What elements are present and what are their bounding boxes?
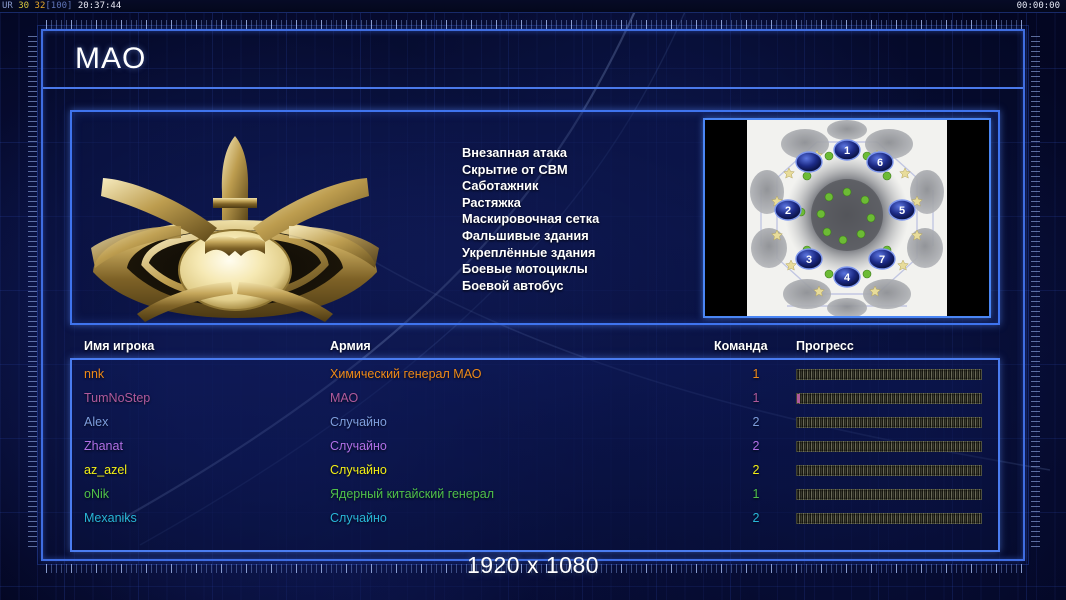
title-bar: MAO [43,31,1023,89]
status-prefix: UR [2,1,13,11]
resolution-label: 1920 x 1080 [0,552,1066,579]
svg-text:6: 6 [877,157,883,169]
player-army: Случайно [330,439,387,453]
player-army: Случайно [330,463,387,477]
player-army: Случайно [330,511,387,525]
map-start-position-marker: 1 [834,140,860,160]
player-progress [796,417,982,428]
player-progress [796,465,982,476]
ruler-left [28,36,37,548]
column-header-team: Команда [714,339,768,353]
svg-text:3: 3 [806,254,812,266]
progress-bar [796,489,982,500]
player-name: Mexaniks [84,511,137,525]
ability-item: Скрытие от СВМ [462,162,599,179]
progress-bar [796,465,982,476]
player-row[interactable]: TumNoStepМАО1 [84,386,996,410]
status-bracket: [100] [45,1,72,11]
player-progress [796,513,982,524]
player-progress [796,489,982,500]
page-title: MAO [43,42,146,76]
player-team: 2 [744,511,768,525]
faction-abilities-list: Внезапная атака Скрытие от СВМ Саботажни… [462,145,599,294]
status-value-1: 30 [18,1,29,11]
column-header-player-name: Имя игрока [84,339,154,353]
player-progress [796,441,982,452]
player-row[interactable]: AlexСлучайно2 [84,410,996,434]
player-name: Zhanat [84,439,123,453]
player-army: Ядерный китайский генерал [330,487,494,501]
player-name: Alex [84,415,108,429]
player-team: 2 [744,439,768,453]
map-start-position-marker: 6 [867,152,893,172]
table-header-row: Имя игрока Армия Команда Прогресс [84,339,996,357]
status-clock: 20:37:44 [78,1,121,11]
map-start-position-marker: 4 [834,267,860,287]
player-team: 1 [744,391,768,405]
player-row[interactable]: az_azelСлучайно2 [84,458,996,482]
ability-item: Саботажник [462,178,599,195]
column-header-army: Армия [330,339,371,353]
player-row[interactable]: nnkХимический генерал МАО1 [84,362,996,386]
ability-item: Фальшивые здания [462,228,599,245]
map-start-position-marker [796,152,822,172]
network-status-text: UR 30 32[100] 20:37:44 [0,1,121,11]
svg-text:1: 1 [844,145,850,157]
map-start-position-marker: 3 [796,249,822,269]
player-name: oNik [84,487,109,501]
ability-item: Маскировочная сетка [462,211,599,228]
status-value-2: 32 [35,1,46,11]
player-row[interactable]: oNikЯдерный китайский генерал1 [84,482,996,506]
player-team: 2 [744,463,768,477]
top-status-bar: UR 30 32[100] 20:37:44 00:00:00 [0,0,1066,13]
progress-bar [796,513,982,524]
map-start-position-marker: 2 [775,200,801,220]
svg-text:5: 5 [899,205,905,217]
ability-item: Укреплённые здания [462,245,599,262]
map-preview[interactable]: 1657432 [703,118,991,318]
player-army: Химический генерал МАО [330,367,481,381]
player-progress [796,369,982,380]
progress-bar [796,393,982,404]
ability-item: Боевой автобус [462,278,599,295]
player-team: 1 [744,487,768,501]
player-name: az_azel [84,463,127,477]
map-image: 1657432 [747,120,947,316]
svg-text:7: 7 [879,254,885,266]
ability-item: Внезапная атака [462,145,599,162]
progress-bar-fill [797,394,800,403]
ability-item: Растяжка [462,195,599,212]
player-team: 2 [744,415,768,429]
svg-text:2: 2 [785,205,791,217]
player-army: МАО [330,391,358,405]
match-timer: 00:00:00 [1017,1,1066,11]
progress-bar [796,417,982,428]
progress-bar [796,369,982,380]
player-name: TumNoStep [84,391,150,405]
svg-text:4: 4 [844,272,851,284]
ruler-right [1031,36,1040,548]
player-name: nnk [84,367,104,381]
map-start-position-marker: 7 [869,249,895,269]
player-army: Случайно [330,415,387,429]
progress-bar [796,441,982,452]
player-progress [796,393,982,404]
game-lobby-screen: UR 30 32[100] 20:37:44 00:00:00 MAO [0,0,1066,600]
player-list: nnkХимический генерал МАО1TumNoStepМАО1A… [84,362,996,530]
map-start-position-marker: 5 [889,200,915,220]
player-row[interactable]: ZhanatСлучайно2 [84,434,996,458]
player-row[interactable]: MexaniksСлучайно2 [84,506,996,530]
player-team: 1 [744,367,768,381]
ability-item: Боевые мотоциклы [462,261,599,278]
column-header-progress: Прогресс [796,339,854,353]
